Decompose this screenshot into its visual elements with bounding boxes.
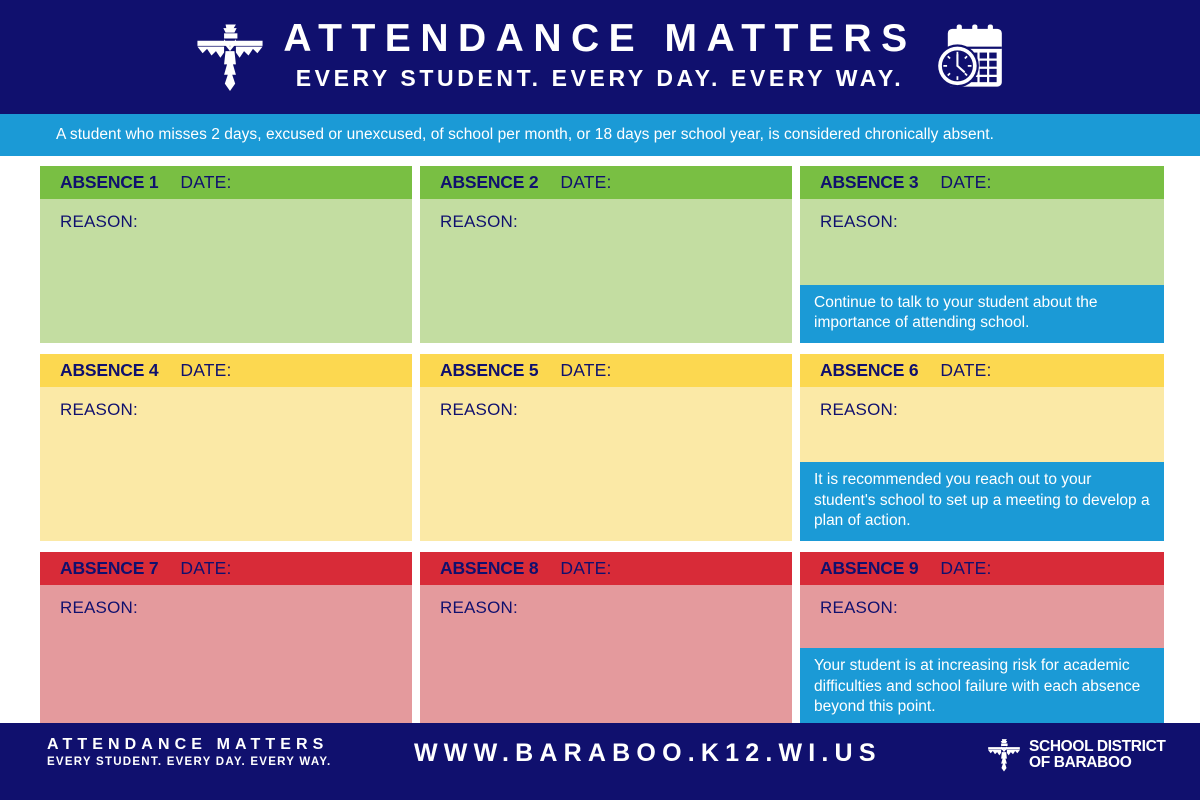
absence-card-3-header: ABSENCE 3 DATE: bbox=[800, 166, 1164, 199]
absence-card-1-write-area[interactable] bbox=[40, 232, 412, 343]
footer-website-url[interactable]: WWW.BARABOO.K12.WI.US bbox=[414, 739, 882, 768]
attendance-tracker-page: ATTENDANCE MATTERS EVERY STUDENT. EVERY … bbox=[0, 0, 1200, 800]
absence-card-1-title: ABSENCE 1 bbox=[60, 172, 158, 193]
absence-card-8-reason-label: REASON: bbox=[420, 585, 792, 618]
absence-card-8[interactable]: ABSENCE 8 DATE: REASON: bbox=[420, 552, 792, 727]
thunderbird-logo-icon bbox=[986, 737, 1022, 773]
absence-card-6-body[interactable]: REASON: It is recommended you reach out … bbox=[800, 387, 1164, 541]
absence-card-grid: ABSENCE 1 DATE: REASON: ABSENCE 2 DATE: … bbox=[40, 166, 1162, 716]
footer-brand-subtitle: EVERY STUDENT. EVERY DAY. EVERY WAY. bbox=[47, 755, 331, 770]
absence-card-1-date-label: DATE: bbox=[180, 172, 231, 193]
absence-card-5-body[interactable]: REASON: bbox=[420, 387, 792, 541]
footer-district-logo: SCHOOL DISTRICT OF BARABOO bbox=[986, 737, 1166, 773]
absence-card-9-reason-label: REASON: bbox=[800, 585, 1164, 618]
absence-card-4-title: ABSENCE 4 bbox=[60, 360, 158, 381]
absence-card-3-write-area[interactable] bbox=[800, 232, 1164, 285]
footer-brand: ATTENDANCE MATTERS EVERY STUDENT. EVERY … bbox=[47, 735, 331, 770]
absence-card-8-body[interactable]: REASON: bbox=[420, 585, 792, 727]
absence-card-9-date-label: DATE: bbox=[940, 558, 991, 579]
footer-district-line-1: SCHOOL DISTRICT bbox=[1029, 739, 1166, 755]
page-header: ATTENDANCE MATTERS EVERY STUDENT. EVERY … bbox=[0, 0, 1200, 114]
absence-card-4-header: ABSENCE 4 DATE: bbox=[40, 354, 412, 387]
absence-card-2-reason-label: REASON: bbox=[420, 199, 792, 232]
page-subtitle: EVERY STUDENT. EVERY DAY. EVERY WAY. bbox=[296, 64, 905, 93]
absence-card-5-reason-label: REASON: bbox=[420, 387, 792, 420]
absence-card-6-date-label: DATE: bbox=[940, 360, 991, 381]
absence-card-2-write-area[interactable] bbox=[420, 232, 792, 343]
absence-card-5-header: ABSENCE 5 DATE: bbox=[420, 354, 792, 387]
thunderbird-logo-icon bbox=[193, 20, 267, 94]
absence-card-3-reason-label: REASON: bbox=[800, 199, 1164, 232]
absence-card-3-date-label: DATE: bbox=[940, 172, 991, 193]
absence-card-1-header: ABSENCE 1 DATE: bbox=[40, 166, 412, 199]
absence-card-8-header: ABSENCE 8 DATE: bbox=[420, 552, 792, 585]
absence-card-5-date-label: DATE: bbox=[560, 360, 611, 381]
page-footer: ATTENDANCE MATTERS EVERY STUDENT. EVERY … bbox=[0, 723, 1200, 800]
absence-card-7-body[interactable]: REASON: bbox=[40, 585, 412, 727]
absence-card-4[interactable]: ABSENCE 4 DATE: REASON: bbox=[40, 354, 412, 541]
absence-card-6-header: ABSENCE 6 DATE: bbox=[800, 354, 1164, 387]
absence-card-6-reason-label: REASON: bbox=[800, 387, 1164, 420]
absence-card-7-write-area[interactable] bbox=[40, 618, 412, 727]
absence-card-9-body[interactable]: REASON: Your student is at increasing ri… bbox=[800, 585, 1164, 727]
absence-card-7-date-label: DATE: bbox=[180, 558, 231, 579]
absence-card-6-title: ABSENCE 6 bbox=[820, 360, 918, 381]
footer-brand-title: ATTENDANCE MATTERS bbox=[47, 735, 331, 754]
absence-card-5-title: ABSENCE 5 bbox=[440, 360, 538, 381]
absence-card-9[interactable]: ABSENCE 9 DATE: REASON: Your student is … bbox=[800, 552, 1164, 727]
absence-card-9-callout: Your student is at increasing risk for a… bbox=[800, 648, 1164, 727]
absence-card-8-date-label: DATE: bbox=[560, 558, 611, 579]
absence-card-2-title: ABSENCE 2 bbox=[440, 172, 538, 193]
absence-card-7-title: ABSENCE 7 bbox=[60, 558, 158, 579]
absence-card-3[interactable]: ABSENCE 3 DATE: REASON: Continue to talk… bbox=[800, 166, 1164, 343]
header-inner: ATTENDANCE MATTERS EVERY STUDENT. EVERY … bbox=[193, 19, 1006, 95]
absence-card-8-title: ABSENCE 8 bbox=[440, 558, 538, 579]
footer-district-name: SCHOOL DISTRICT OF BARABOO bbox=[1029, 739, 1166, 772]
header-title-block: ATTENDANCE MATTERS EVERY STUDENT. EVERY … bbox=[283, 19, 916, 95]
absence-card-2-header: ABSENCE 2 DATE: bbox=[420, 166, 792, 199]
absence-card-6-callout: It is recommended you reach out to your … bbox=[800, 462, 1164, 541]
absence-card-4-body[interactable]: REASON: bbox=[40, 387, 412, 541]
absence-card-9-write-area[interactable] bbox=[800, 618, 1164, 648]
absence-card-5[interactable]: ABSENCE 5 DATE: REASON: bbox=[420, 354, 792, 541]
chronic-absence-banner: A student who misses 2 days, excused or … bbox=[0, 114, 1200, 156]
absence-card-7-reason-label: REASON: bbox=[40, 585, 412, 618]
absence-card-3-callout: Continue to talk to your student about t… bbox=[800, 285, 1164, 343]
absence-card-3-body[interactable]: REASON: Continue to talk to your student… bbox=[800, 199, 1164, 343]
absence-card-6[interactable]: ABSENCE 6 DATE: REASON: It is recommende… bbox=[800, 354, 1164, 541]
absence-card-1-reason-label: REASON: bbox=[40, 199, 412, 232]
absence-card-2-date-label: DATE: bbox=[560, 172, 611, 193]
absence-card-5-write-area[interactable] bbox=[420, 420, 792, 541]
chronic-absence-banner-text: A student who misses 2 days, excused or … bbox=[56, 126, 994, 144]
absence-card-8-write-area[interactable] bbox=[420, 618, 792, 727]
absence-card-7[interactable]: ABSENCE 7 DATE: REASON: bbox=[40, 552, 412, 727]
absence-card-4-write-area[interactable] bbox=[40, 420, 412, 541]
absence-card-2-body[interactable]: REASON: bbox=[420, 199, 792, 343]
page-title: ATTENDANCE MATTERS bbox=[283, 19, 916, 60]
absence-card-4-reason-label: REASON: bbox=[40, 387, 412, 420]
footer-district-line-2: OF BARABOO bbox=[1029, 755, 1166, 771]
absence-card-9-title: ABSENCE 9 bbox=[820, 558, 918, 579]
absence-card-9-header: ABSENCE 9 DATE: bbox=[800, 552, 1164, 585]
absence-card-7-header: ABSENCE 7 DATE: bbox=[40, 552, 412, 585]
absence-card-1-body[interactable]: REASON: bbox=[40, 199, 412, 343]
absence-card-6-write-area[interactable] bbox=[800, 420, 1164, 462]
absence-card-2[interactable]: ABSENCE 2 DATE: REASON: bbox=[420, 166, 792, 343]
absence-card-3-title: ABSENCE 3 bbox=[820, 172, 918, 193]
absence-card-1[interactable]: ABSENCE 1 DATE: REASON: bbox=[40, 166, 412, 343]
calendar-clock-icon bbox=[933, 20, 1007, 94]
absence-card-4-date-label: DATE: bbox=[180, 360, 231, 381]
